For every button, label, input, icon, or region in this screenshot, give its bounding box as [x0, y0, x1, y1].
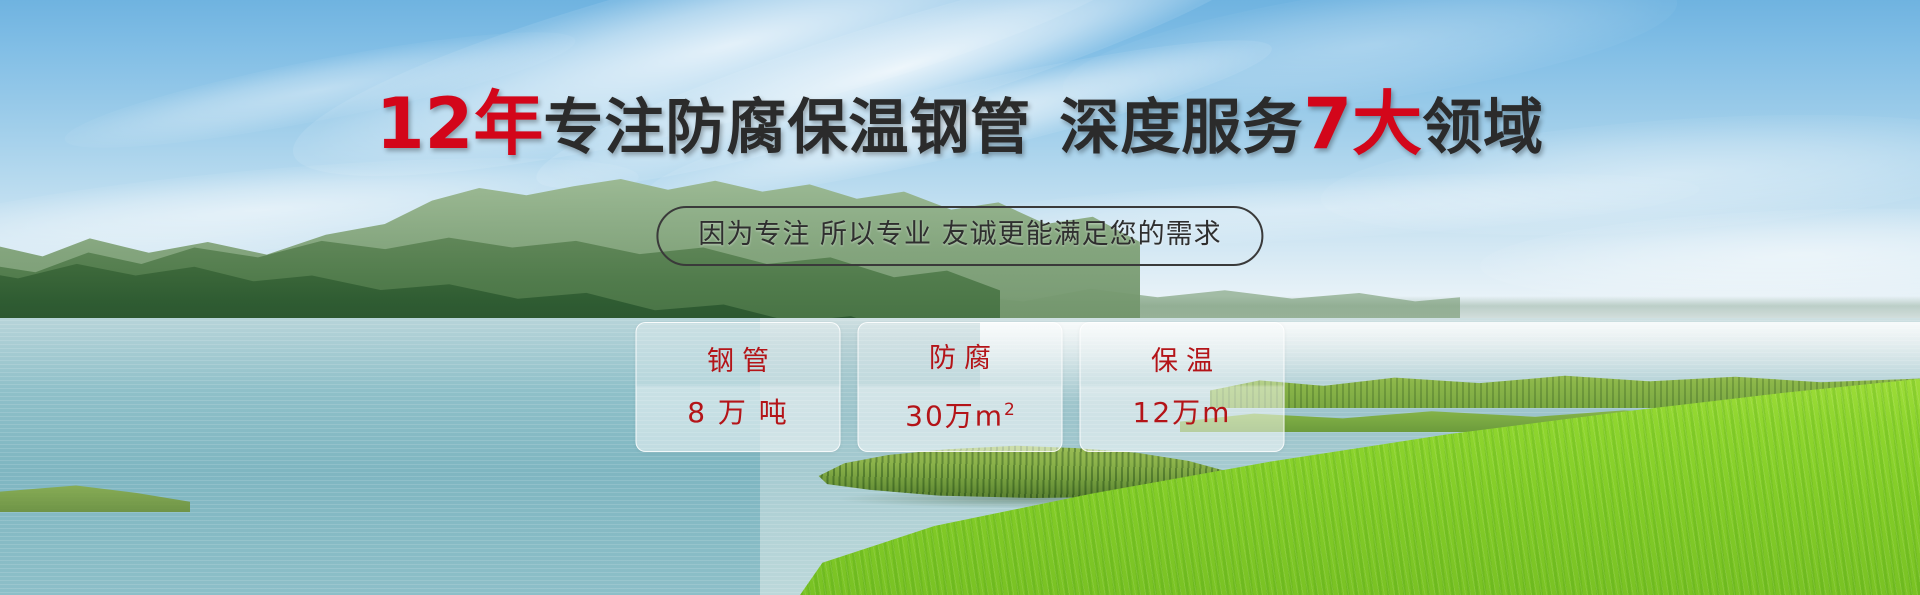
subtitle-pill: 因为专注 所以专业 友诚更能满足您的需求	[656, 206, 1263, 266]
headline-fields-unit: 大	[1352, 83, 1422, 165]
stat-card-title: 钢管	[699, 345, 777, 379]
stat-card-value-text: 8 万 吨	[687, 396, 789, 429]
stat-card[interactable]: 防腐 30万m2	[858, 322, 1063, 452]
stat-card-title: 防腐	[921, 342, 999, 376]
headline-years-number: 12	[376, 83, 473, 165]
stat-card-value-text: 12万m	[1133, 396, 1232, 429]
stat-card[interactable]: 保温 12万m	[1080, 322, 1285, 452]
stat-card-title: 保温	[1143, 345, 1221, 379]
banner-content: 12年专注防腐保温钢管深度服务7大领域 因为专注 所以专业 友诚更能满足您的需求…	[0, 0, 1920, 595]
headline: 12年专注防腐保温钢管深度服务7大领域	[0, 92, 1920, 160]
headline-years-unit: 年	[473, 83, 543, 165]
stat-card-value: 30万m2	[905, 394, 1015, 432]
stat-card-value-text: 30万m	[905, 399, 1004, 432]
headline-fields-number: 7	[1303, 83, 1352, 165]
stat-card-value: 12万m	[1133, 397, 1232, 429]
stat-card-value-superscript: 2	[1004, 400, 1015, 420]
stat-card-list: 钢管 8 万 吨 防腐 30万m2 保温 12万m	[636, 322, 1285, 452]
headline-part-1: 专注防腐保温钢管	[543, 93, 1031, 163]
stat-card-value: 8 万 吨	[687, 397, 789, 429]
stat-card[interactable]: 钢管 8 万 吨	[636, 322, 841, 452]
hero-banner: 12年专注防腐保温钢管深度服务7大领域 因为专注 所以专业 友诚更能满足您的需求…	[0, 0, 1920, 595]
headline-part-3: 领域	[1422, 93, 1544, 163]
headline-part-2: 深度服务	[1059, 93, 1303, 163]
